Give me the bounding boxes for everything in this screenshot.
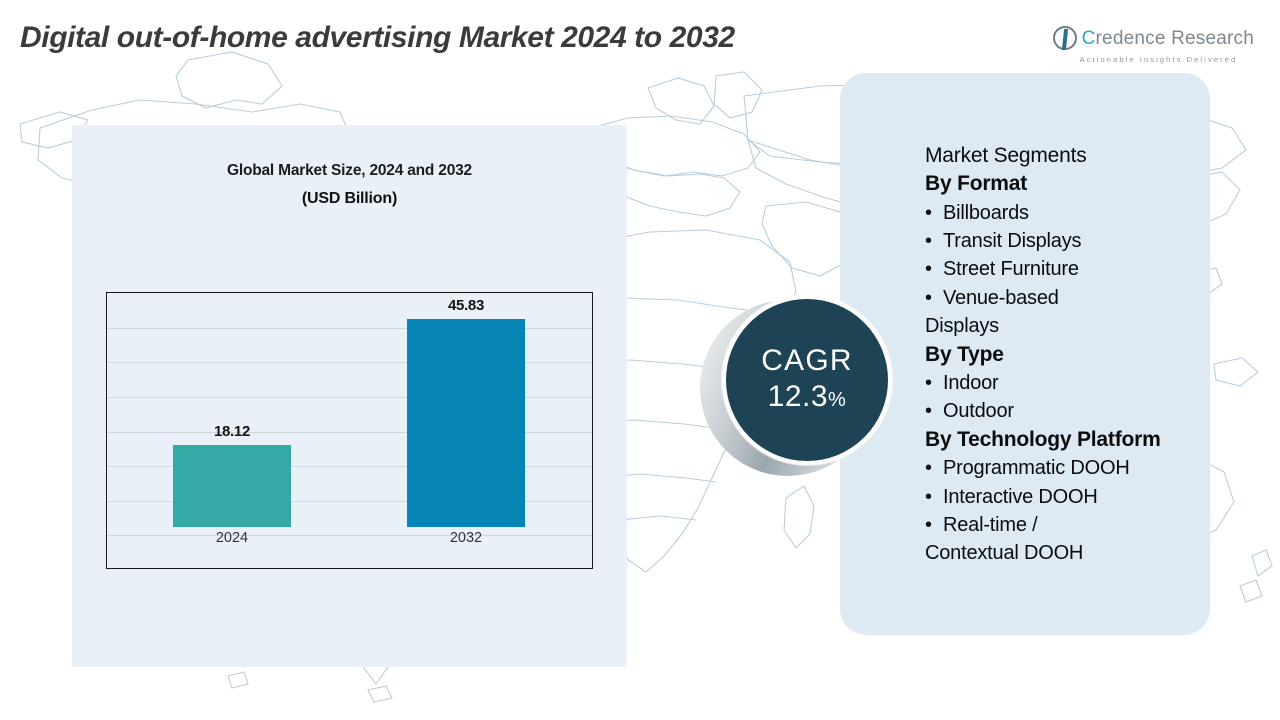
brand-name: Credence Research: [1082, 28, 1254, 50]
market-segments-list: Market Segments By Format•Billboards•Tra…: [925, 142, 1215, 568]
segment-item-label: Programmatic DOOH: [943, 457, 1130, 479]
x-tick-2032: 2032: [407, 530, 525, 546]
segment-item-label: Transit Displays: [943, 230, 1081, 252]
segment-item-label: Billboards: [943, 202, 1029, 224]
credence-circle-mark-icon: [1050, 24, 1080, 54]
bar-value-2032: 45.83: [448, 297, 484, 314]
segment-item-continuation: Displays: [925, 312, 1215, 340]
segment-item[interactable]: •Outdoor: [925, 397, 1215, 425]
brand-logo[interactable]: Credence Research Actionable Insights De…: [1050, 24, 1254, 64]
segment-group-title: By Type: [925, 341, 1215, 369]
segment-group-title: By Technology Platform: [925, 426, 1215, 454]
segment-item-label: Indoor: [943, 372, 999, 394]
segment-item[interactable]: •Indoor: [925, 369, 1215, 397]
bullet-icon: •: [925, 255, 943, 283]
segment-item[interactable]: •Transit Displays: [925, 227, 1215, 255]
bullet-icon: •: [925, 454, 943, 482]
bar-chart-plot-area: 18.12 45.83 2024 2032: [106, 292, 593, 569]
segment-group-title: By Format: [925, 170, 1215, 198]
segment-item[interactable]: •Interactive DOOH: [925, 483, 1215, 511]
segment-item[interactable]: •Street Furniture: [925, 255, 1215, 283]
bullet-icon: •: [925, 397, 943, 425]
segment-item-label: Interactive DOOH: [943, 486, 1098, 508]
page-title: Digital out-of-home advertising Market 2…: [20, 21, 735, 55]
bar-rect-2032[interactable]: [407, 319, 525, 527]
cagr-value: 12.3%: [768, 380, 847, 415]
bullet-icon: •: [925, 227, 943, 255]
segment-item[interactable]: •Billboards: [925, 199, 1215, 227]
segment-item-label: Real-time /: [943, 514, 1038, 536]
bullet-icon: •: [925, 483, 943, 511]
brand-tagline: Actionable Insights Delivered: [1080, 55, 1254, 64]
bar-group-2024[interactable]: 18.12: [173, 423, 291, 527]
chart-x-axis: 2024 2032: [107, 530, 592, 560]
segment-item-continuation: Contextual DOOH: [925, 539, 1215, 567]
bullet-icon: •: [925, 369, 943, 397]
bullet-icon: •: [925, 284, 943, 312]
brand-name-rest: redence Research: [1096, 28, 1254, 49]
brand-name-prefix: C: [1082, 28, 1096, 49]
segment-item[interactable]: •Venue-based: [925, 284, 1215, 312]
chart-bars: 18.12 45.83: [107, 293, 592, 527]
cagr-circle: CAGR 12.3%: [722, 295, 892, 465]
bar-group-2032[interactable]: 45.83: [407, 297, 525, 527]
bar-rect-2024[interactable]: [173, 445, 291, 527]
cagr-number: 12.3: [768, 380, 828, 413]
segment-item-label: Street Furniture: [943, 258, 1079, 280]
bullet-icon: •: [925, 511, 943, 539]
chart-subtitle: (USD Billion): [72, 190, 627, 208]
segment-item-label: Outdoor: [943, 400, 1014, 422]
cagr-percent-sign: %: [828, 389, 846, 411]
bar-value-2024: 18.12: [214, 423, 250, 440]
segment-item[interactable]: •Real-time /: [925, 511, 1215, 539]
segment-item-label: Venue-based: [943, 287, 1059, 309]
bullet-icon: •: [925, 199, 943, 227]
x-tick-2024: 2024: [173, 530, 291, 546]
segments-heading: Market Segments: [925, 142, 1215, 170]
chart-title: Global Market Size, 2024 and 2032: [72, 162, 627, 180]
segment-item[interactable]: •Programmatic DOOH: [925, 454, 1215, 482]
cagr-label: CAGR: [761, 346, 852, 376]
